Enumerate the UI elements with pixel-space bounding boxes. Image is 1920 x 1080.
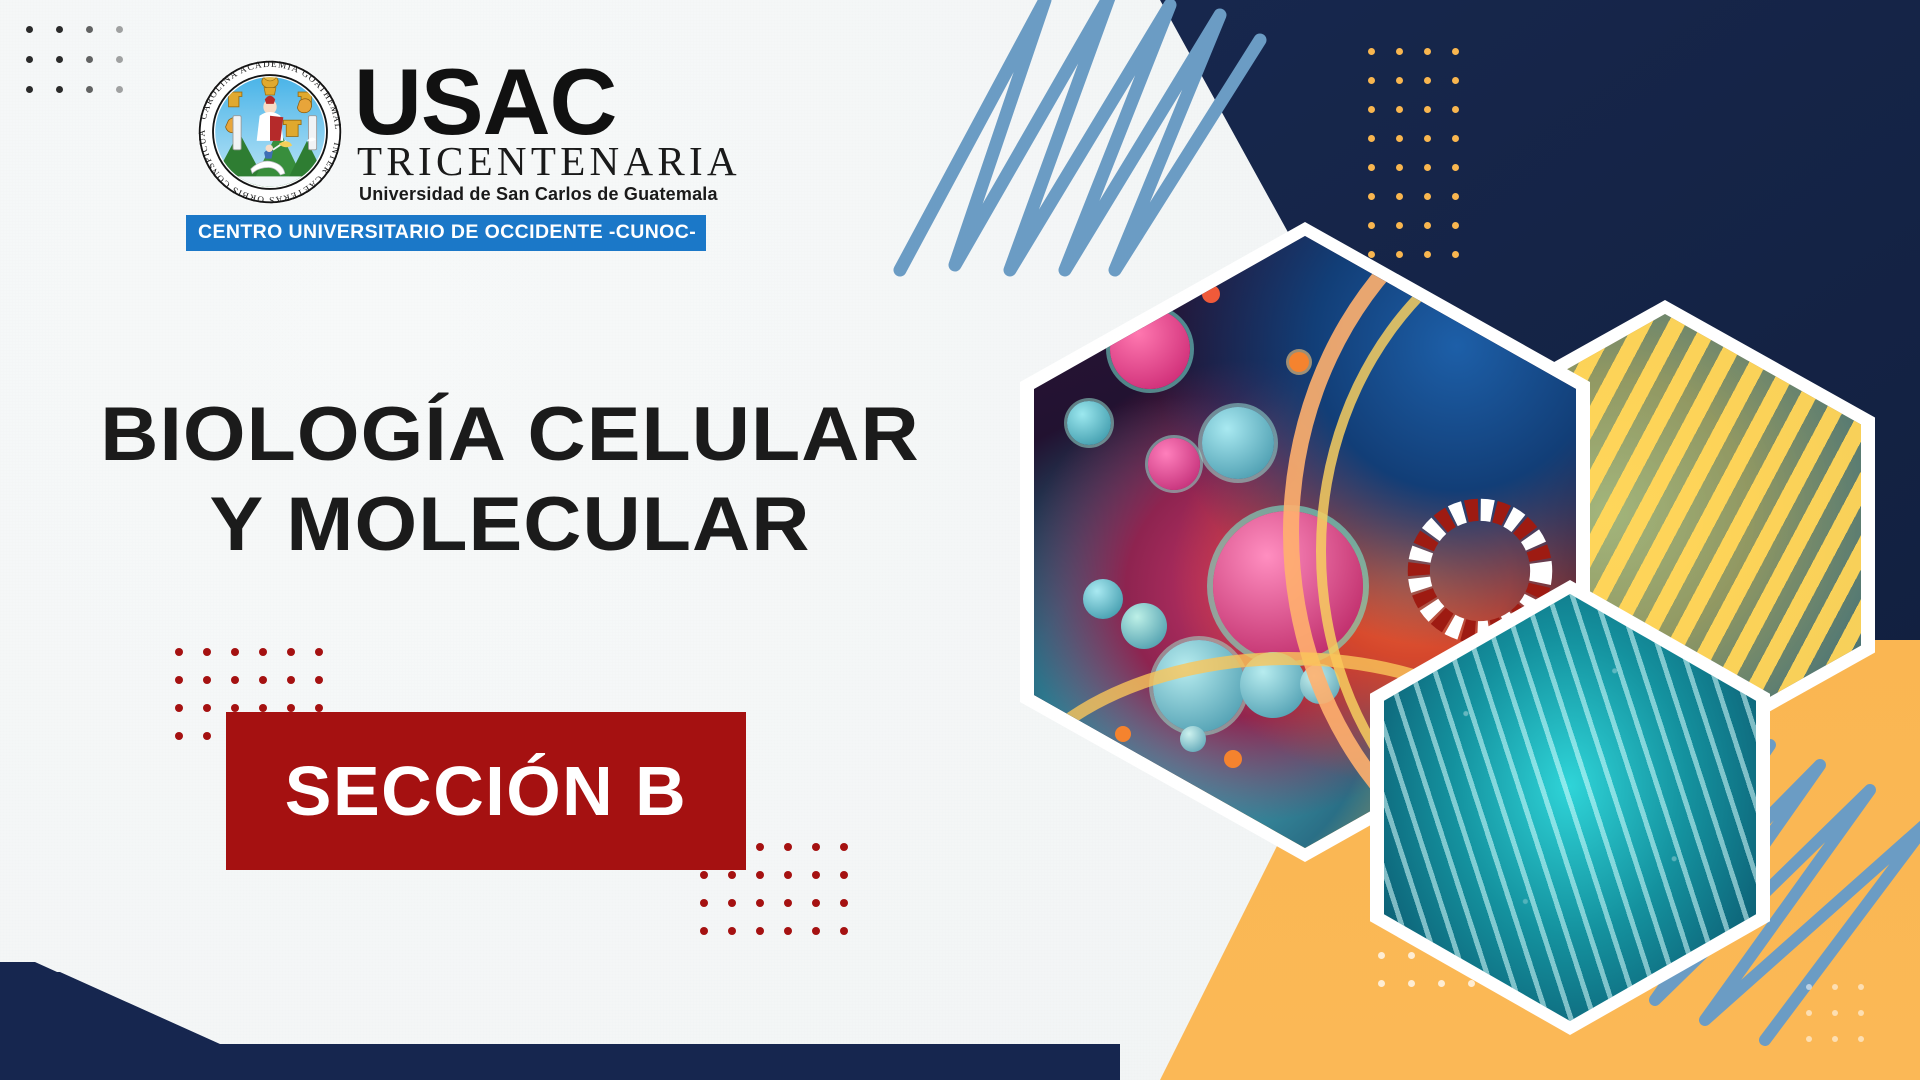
section-badge: SECCIÓN B <box>226 712 746 870</box>
page-title: BIOLOGÍA CELULAR Y MOLECULAR <box>0 390 1051 571</box>
section-badge-label: SECCIÓN B <box>285 751 687 831</box>
usac-seal-icon: CAROLINA ACADEMIA GOATHEMALENSIS INTER C… <box>196 58 344 206</box>
poster-canvas: CAROLINA ACADEMIA GOATHEMALENSIS INTER C… <box>0 0 1920 1080</box>
page-title-line-1: BIOLOGÍA CELULAR <box>100 392 920 477</box>
dots-top-left <box>26 26 146 116</box>
dna-teal-hexagon-image <box>1384 594 1756 1021</box>
scribble-top-right <box>860 0 1280 300</box>
dots-white-bottom-right <box>1806 984 1884 1062</box>
usac-acronym: USAC <box>354 62 741 143</box>
usac-tagline: TRICENTENARIA <box>354 141 741 182</box>
dots-orange-top-right <box>1368 48 1480 280</box>
cunoc-banner: CENTRO UNIVERSITARIO DE OCCIDENTE -CUNOC… <box>186 215 706 251</box>
usac-full-name: Universidad de San Carlos de Guatemala <box>354 184 741 205</box>
usac-logo-block: CAROLINA ACADEMIA GOATHEMALENSIS INTER C… <box>196 58 756 251</box>
page-title-line-2: Y MOLECULAR <box>0 480 1051 570</box>
